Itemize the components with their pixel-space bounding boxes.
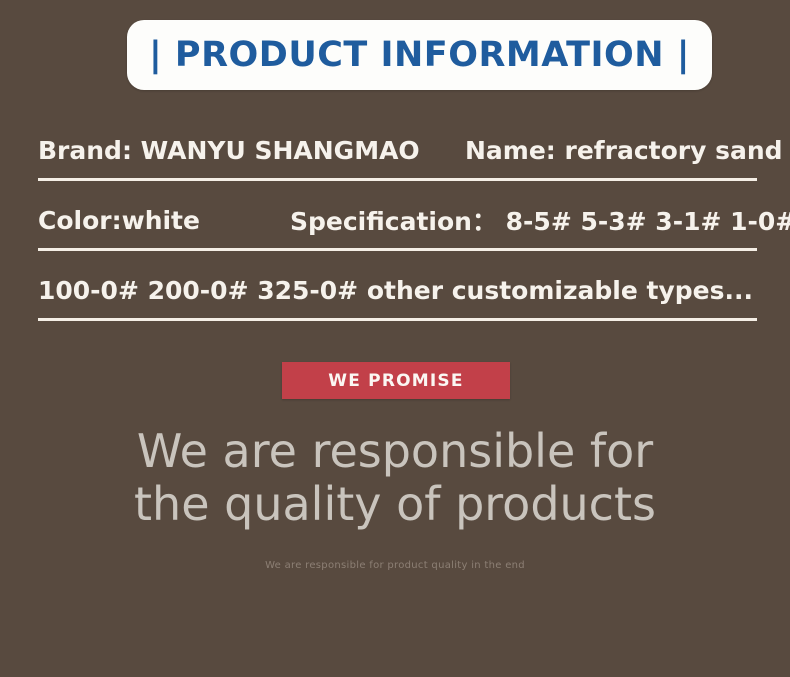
spec-name-label: Name: refractory sand <box>465 136 783 165</box>
spec-row-sizes: 100-0# 200-0# 325-0# other customizable … <box>0 262 790 332</box>
spec-brand-label: Brand: WANYU SHANGMAO <box>38 136 420 165</box>
spec-specification-label: Specification： 8-5# 5-3# 3-1# 1-0# <box>290 202 790 238</box>
promise-headline-line-2: the quality of products <box>0 478 790 531</box>
promise-tagline: We are responsible for product quality i… <box>0 560 790 571</box>
promise-headline: We are responsible for the quality of pr… <box>0 425 790 531</box>
spec-divider <box>38 178 757 181</box>
we-promise-badge: WE PROMISE <box>282 362 510 399</box>
product-information-banner: | PRODUCT INFORMATION | Brand: WANYU SHA… <box>0 0 790 677</box>
promise-headline-line-1: We are responsible for <box>0 425 790 478</box>
spec-sizes-label: 100-0# 200-0# 325-0# other customizable … <box>38 276 753 305</box>
spec-row-color: Color:white Specification： 8-5# 5-3# 3-1… <box>0 192 790 262</box>
we-promise-badge-label: WE PROMISE <box>328 371 463 391</box>
spec-divider <box>38 318 757 321</box>
spec-color-label: Color:white <box>38 206 200 235</box>
spec-divider <box>38 248 757 251</box>
header-pill: | PRODUCT INFORMATION | <box>127 20 712 90</box>
spec-list: Brand: WANYU SHANGMAO Name: refractory s… <box>0 122 790 332</box>
spec-row-brand: Brand: WANYU SHANGMAO Name: refractory s… <box>0 122 790 192</box>
page-title: | PRODUCT INFORMATION | <box>149 35 690 75</box>
